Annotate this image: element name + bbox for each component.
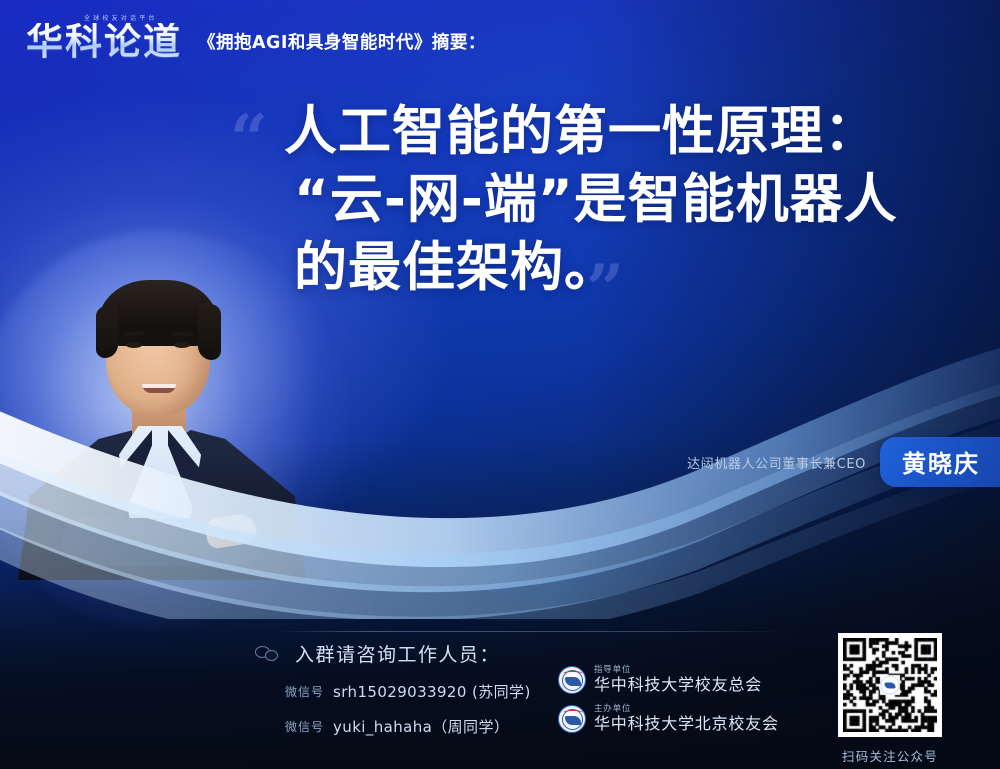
quote-line-2: “云-网-端”是智能机器人 (294, 166, 988, 234)
brand-tagline: 全球校友对话平台 (84, 13, 158, 22)
speaker-role: 达闼机器人公司董事长兼CEO (687, 453, 866, 472)
organizer-kicker: 主办单位 (594, 705, 779, 714)
contact-row: 微信号 srh15029033920 (苏同学) (255, 681, 531, 702)
contact-label: 微信号 (285, 683, 324, 700)
organizer-item: 主办单位 华中科技大学北京校友会 (558, 705, 779, 733)
quote-line-1: 人工智能的第一性原理： (284, 98, 988, 166)
seal-emblem (565, 677, 581, 686)
seal-arc-text (563, 710, 583, 715)
portrait-hair (98, 280, 218, 346)
seal-emblem (565, 716, 581, 725)
footer-divider (278, 631, 786, 632)
seal-arc-text (563, 671, 583, 676)
contact-value[interactable]: yuki_hahaha（周同学） (333, 716, 509, 737)
quote-line-3: 的最佳架构。 (294, 234, 988, 302)
brand-logo-text: 华科论道 (26, 23, 182, 60)
speaker-name-badge: 黄晓庆 (880, 437, 1000, 487)
portrait-eye-right (174, 342, 190, 348)
page-title: 《拥抱AGI和具身智能时代》摘要： (198, 29, 486, 60)
wechat-icon (255, 645, 281, 663)
portrait-eye-left (126, 342, 142, 348)
organizer-name: 华中科技大学北京校友会 (594, 716, 779, 733)
hust-seal-icon (558, 705, 586, 733)
qr-block: 扫码关注公众号 (838, 633, 942, 765)
organizer-text: 指导单位 华中科技大学校友总会 (594, 666, 762, 694)
footer-contacts: 入群请咨询工作人员： 微信号 srh15029033920 (苏同学) 微信号 … (255, 640, 531, 737)
organizer-name: 华中科技大学校友总会 (594, 677, 762, 694)
footer-heading-row: 入群请咨询工作人员： (255, 640, 531, 667)
organizer-item: 指导单位 华中科技大学校友总会 (558, 666, 779, 694)
brand-logo: 全球校友对话平台 华科论道 (26, 14, 182, 60)
quote-block: “ ” 人工智能的第一性原理： “云-网-端”是智能机器人 的最佳架构。 (228, 98, 988, 301)
contact-label: 微信号 (285, 718, 324, 735)
contact-value[interactable]: srh15029033920 (苏同学) (333, 681, 531, 702)
speaker-attribution: 达闼机器人公司董事长兼CEO 黄晓庆 (687, 437, 1000, 487)
qr-caption: 扫码关注公众号 (838, 746, 942, 765)
poster-canvas: 全球校友对话平台 华科论道 《拥抱AGI和具身智能时代》摘要： “ ” 人工智能… (0, 0, 1000, 769)
wechat-bubble-small (265, 650, 278, 661)
organizer-list: 指导单位 华中科技大学校友总会 主办单位 华中科技大学北京校友会 (558, 666, 779, 744)
contact-row: 微信号 yuki_hahaha（周同学） (255, 716, 531, 737)
speaker-portrait (10, 280, 310, 580)
qr-center-logo (881, 676, 900, 695)
portrait-mouth (142, 384, 176, 393)
organizer-text: 主办单位 华中科技大学北京校友会 (594, 705, 779, 733)
footer-title: 入群请咨询工作人员： (295, 640, 500, 667)
organizer-kicker: 指导单位 (594, 666, 762, 675)
quote-lines: 人工智能的第一性原理： “云-网-端”是智能机器人 的最佳架构。 (228, 98, 988, 301)
hust-seal-icon (558, 666, 586, 694)
poster-header: 全球校友对话平台 华科论道 《拥抱AGI和具身智能时代》摘要： (26, 14, 486, 60)
qr-code[interactable] (838, 633, 942, 737)
